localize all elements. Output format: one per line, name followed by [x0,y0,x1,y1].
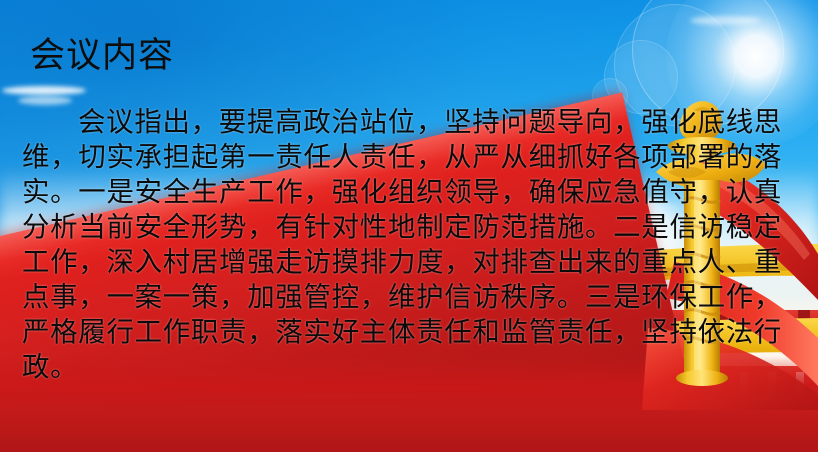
presentation-slide: 会议内容 会议指出，要提高政治站位，坚持问题导向，强化底线思维，切实承担起第一责… [0,0,818,452]
slide-body-text: 会议指出，要提高政治站位，坚持问题导向，强化底线思维，切实承担起第一责任人责任，… [22,104,782,384]
cloud-icon-wisp-3 [690,16,760,25]
page-title: 会议内容 [30,36,174,76]
cloud-icon-wisp-1 [2,86,86,95]
